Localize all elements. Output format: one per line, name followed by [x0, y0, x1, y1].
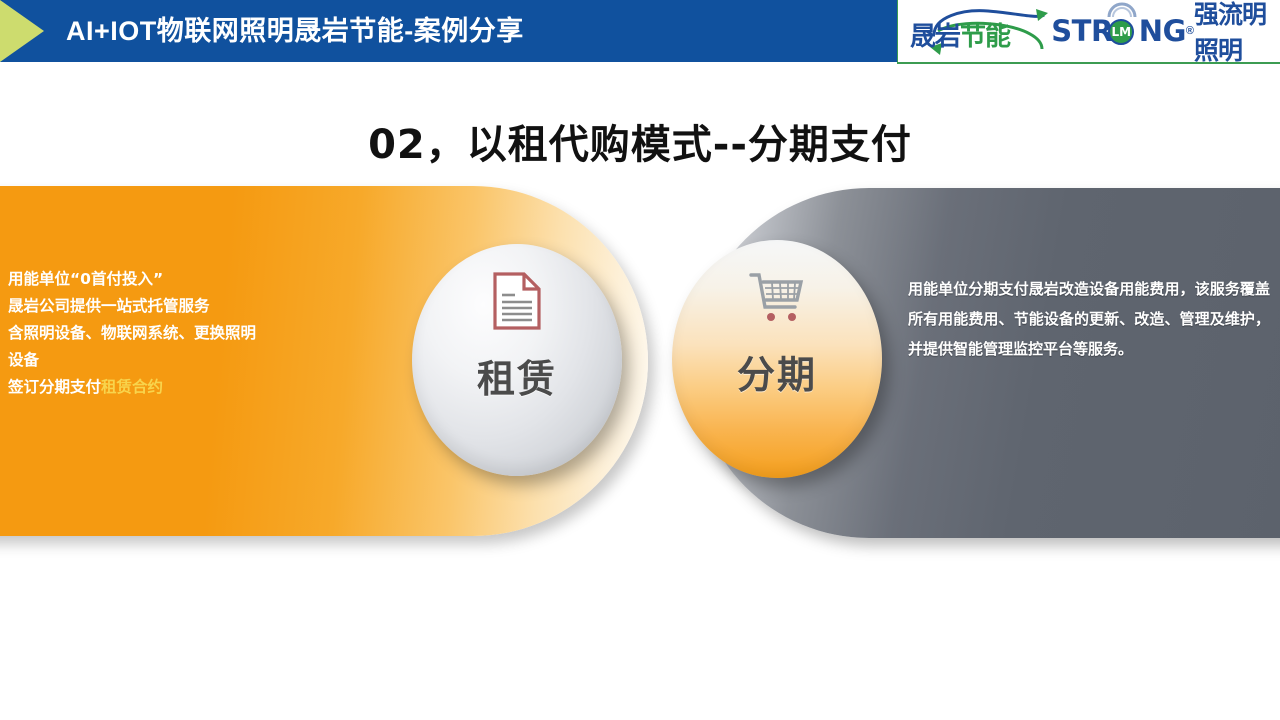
registered-mark: ® [1186, 25, 1194, 37]
logo-text-shengyan: 晟岩 [910, 22, 960, 52]
strong-wordmark: STRNG LM [1051, 14, 1186, 48]
installment-circle-label: 分期 [737, 344, 817, 399]
strong-prefix: STR [1051, 14, 1113, 48]
page-title: 02，以租代购模式--分期支付 [0, 112, 1280, 170]
qiangliuming-text: 强流明照明 [1194, 0, 1280, 67]
logo-text-jieneng: 节能 [960, 22, 1010, 52]
rental-line-3: 含照明设备、物联网系统、更换照明 [8, 320, 308, 347]
rental-line-5: 签订分期支付租赁合约 [8, 374, 308, 401]
document-icon [491, 270, 543, 332]
rental-line-4: 设备 [8, 347, 308, 374]
shopping-cart-icon [747, 266, 807, 328]
rental-line-5-main: 签订分期支付 [8, 378, 101, 396]
installment-circle[interactable]: 分期 [672, 240, 882, 478]
lm-mark: LM [1112, 25, 1132, 39]
rental-circle-label: 租赁 [477, 348, 557, 403]
rental-line-2: 晟岩公司提供一站式托管服务 [8, 293, 308, 320]
rental-description: 用能单位“0首付投入” 晟岩公司提供一站式托管服务 含照明设备、物联网系统、更换… [8, 266, 308, 401]
header-title: AI+IOT物联网照明晟岩节能-案例分享 [66, 0, 524, 62]
rental-line-1: 用能单位“0首付投入” [8, 266, 308, 293]
rental-circle[interactable]: 租赁 [412, 244, 622, 476]
diagram-stage: 用能单位“0首付投入” 晟岩公司提供一站式托管服务 含照明设备、物联网系统、更换… [0, 186, 1280, 546]
slide-root: AI+IOT物联网照明晟岩节能-案例分享 晟岩节能 STRNG LM ® [0, 0, 1280, 720]
rental-line-5-accent: 租赁合约 [101, 378, 163, 396]
chevron-accent-icon [0, 0, 44, 62]
shengyan-logo: 晟岩节能 [904, 3, 1043, 59]
installment-description: 用能单位分期支付晟岩改造设备用能费用，该服务覆盖所有用能费用、节能设备的更新、改… [908, 274, 1270, 364]
logo-panel: 晟岩节能 STRNG LM ® 强流明照明 [897, 0, 1280, 64]
shengyan-logo-text: 晟岩节能 [910, 16, 1010, 53]
antenna-arc-icon [1107, 0, 1137, 18]
strong-logo: STRNG LM ® 强流明照明 [1051, 0, 1280, 67]
